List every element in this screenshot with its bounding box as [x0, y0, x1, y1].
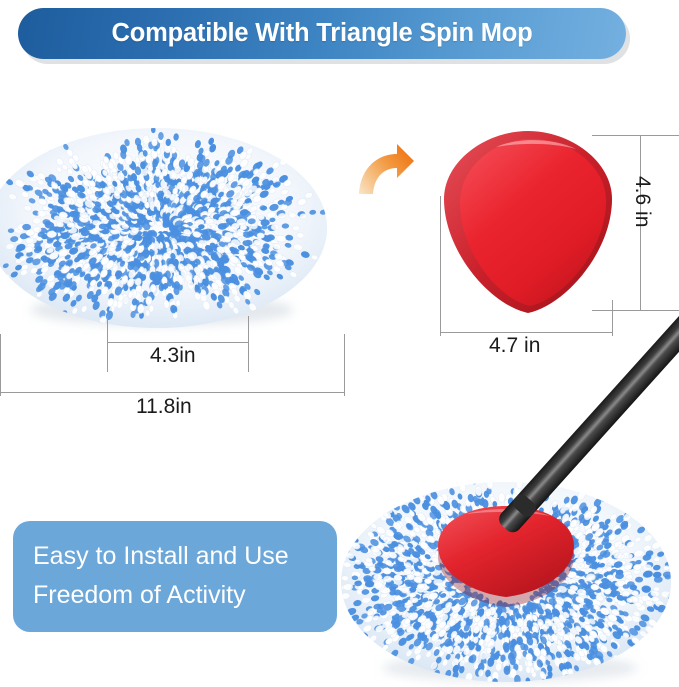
dim-11-8-in-tick-right — [344, 334, 345, 396]
dim-4-7-in-tick-right — [612, 300, 613, 336]
dim-4-7-in-tick-left — [440, 196, 441, 336]
feature-line-2: Freedom of Activity — [33, 576, 317, 615]
dim-4-6-in-tick-top — [592, 135, 679, 136]
infographic-page: Compatible With Triangle Spin Mop — [0, 0, 679, 687]
feature-callout-box: Easy to Install and Use Freedom of Activ… — [13, 521, 337, 632]
header-banner: Compatible With Triangle Spin Mop — [18, 8, 626, 59]
dim-4-3-in-line — [107, 342, 248, 343]
dim-4-6-in-tick-bottom — [592, 310, 679, 311]
dim-4-3-in-tick-right — [248, 316, 249, 372]
dim-11-8-in-line — [0, 392, 344, 393]
assembled-mop-illustration — [338, 470, 679, 687]
dim-11-8-in-label: 11.8in — [136, 395, 192, 419]
dim-4-3-in-tick-left — [107, 316, 108, 372]
header-banner-title: Compatible With Triangle Spin Mop — [112, 19, 533, 48]
mop-head-illustration — [0, 124, 330, 336]
feature-line-1: Easy to Install and Use — [33, 537, 317, 576]
dim-11-8-in-tick-left — [0, 334, 1, 396]
red-triangle-plate-illustration — [430, 125, 626, 321]
curved-right-arrow-icon — [356, 142, 416, 200]
dim-4-3-in-label: 4.3in — [150, 344, 196, 368]
dim-4-6-in-label: 4.6 in — [630, 176, 654, 227]
dim-4-7-in-label: 4.7 in — [489, 334, 540, 358]
dim-4-7-in-line — [440, 332, 612, 333]
